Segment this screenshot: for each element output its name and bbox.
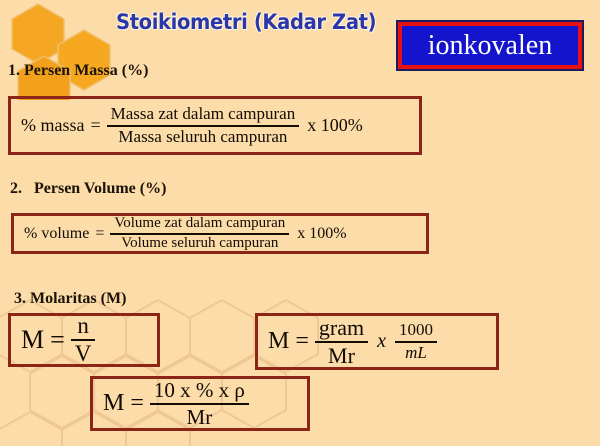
formula-expression: % massa = Massa zat dalam campuran Massa… (11, 105, 363, 145)
formula-lhs: M (103, 390, 124, 417)
formula-expression: M = n V (11, 314, 95, 367)
equals-sign: = (295, 328, 309, 355)
section-number: 2. (10, 180, 22, 197)
formula-expression: % volume = Volume zat dalam campuran Vol… (14, 216, 347, 252)
formula-tail: x 100% (297, 225, 346, 243)
fraction-denominator: mL (401, 343, 431, 362)
fraction: Massa zat dalam campuran Massa seluruh c… (107, 105, 300, 145)
formula-expression: M = gram Mr x 1000 mL (258, 316, 437, 367)
page-title: Stoikiometri (Kadar Zat) (116, 10, 376, 34)
section-heading-molaritas: 3.Molaritas (M) (14, 290, 126, 308)
equals-sign: = (95, 225, 104, 243)
formula-box-molaritas-n-v: M = n V (8, 313, 160, 367)
ionkovalen-callout-box[interactable]: ionkovalen (398, 22, 582, 69)
fraction: 10 x % x ρ Mr (150, 379, 249, 428)
fraction: gram Mr (315, 316, 368, 367)
fraction-numerator: 1000 (395, 321, 437, 340)
equals-sign: = (90, 115, 100, 136)
fraction-numerator: Massa zat dalam campuran (107, 105, 300, 124)
fraction-denominator: V (71, 341, 96, 366)
hexagon-decoration (2, 0, 122, 100)
section-heading-persen-volume: 2.Persen Volume (%) (10, 180, 166, 198)
section-title: Molaritas (M) (30, 290, 126, 307)
section-number: 1. (8, 62, 20, 79)
section-heading-persen-massa: 1.Persen Massa (%) (8, 62, 148, 80)
fraction-numerator: Volume zat dalam campuran (110, 216, 289, 233)
hexagon-icon (12, 4, 64, 64)
formula-expression: M = 10 x % x ρ Mr (93, 379, 249, 428)
section-title: Persen Volume (%) (34, 180, 166, 197)
fraction-denominator: Mr (324, 343, 359, 367)
formula-lhs: % massa (21, 115, 84, 136)
fraction-numerator: 10 x % x ρ (150, 379, 249, 402)
fraction-numerator: gram (315, 316, 368, 340)
formula-lhs: % volume (24, 225, 89, 243)
fraction-denominator: Mr (183, 405, 217, 428)
formula-tail: x 100% (307, 115, 363, 136)
fraction-denominator: Volume seluruh campuran (117, 235, 282, 252)
section-title: Persen Massa (%) (24, 62, 148, 79)
fraction-secondary: 1000 mL (395, 321, 437, 361)
formula-lhs: M (268, 328, 289, 355)
equals-sign: = (130, 390, 144, 417)
callout-label: ionkovalen (428, 32, 552, 60)
slide-canvas: Stoikiometri (Kadar Zat) ionkovalen 1.Pe… (0, 0, 600, 446)
formula-box-molaritas-gram-mr: M = gram Mr x 1000 mL (255, 313, 499, 370)
fraction: Volume zat dalam campuran Volume seluruh… (110, 216, 289, 252)
fraction-numerator: n (73, 314, 93, 339)
section-number: 3. (14, 290, 26, 307)
formula-box-persen-volume: % volume = Volume zat dalam campuran Vol… (11, 213, 429, 254)
formula-box-molaritas-persen-rho: M = 10 x % x ρ Mr (90, 376, 310, 431)
multiplication-operator: x (377, 330, 386, 353)
equals-sign: = (50, 325, 65, 355)
formula-lhs: M (21, 325, 44, 355)
formula-box-persen-massa: % massa = Massa zat dalam campuran Massa… (8, 96, 422, 155)
fraction: n V (71, 314, 96, 367)
fraction-denominator: Massa seluruh campuran (114, 127, 291, 146)
